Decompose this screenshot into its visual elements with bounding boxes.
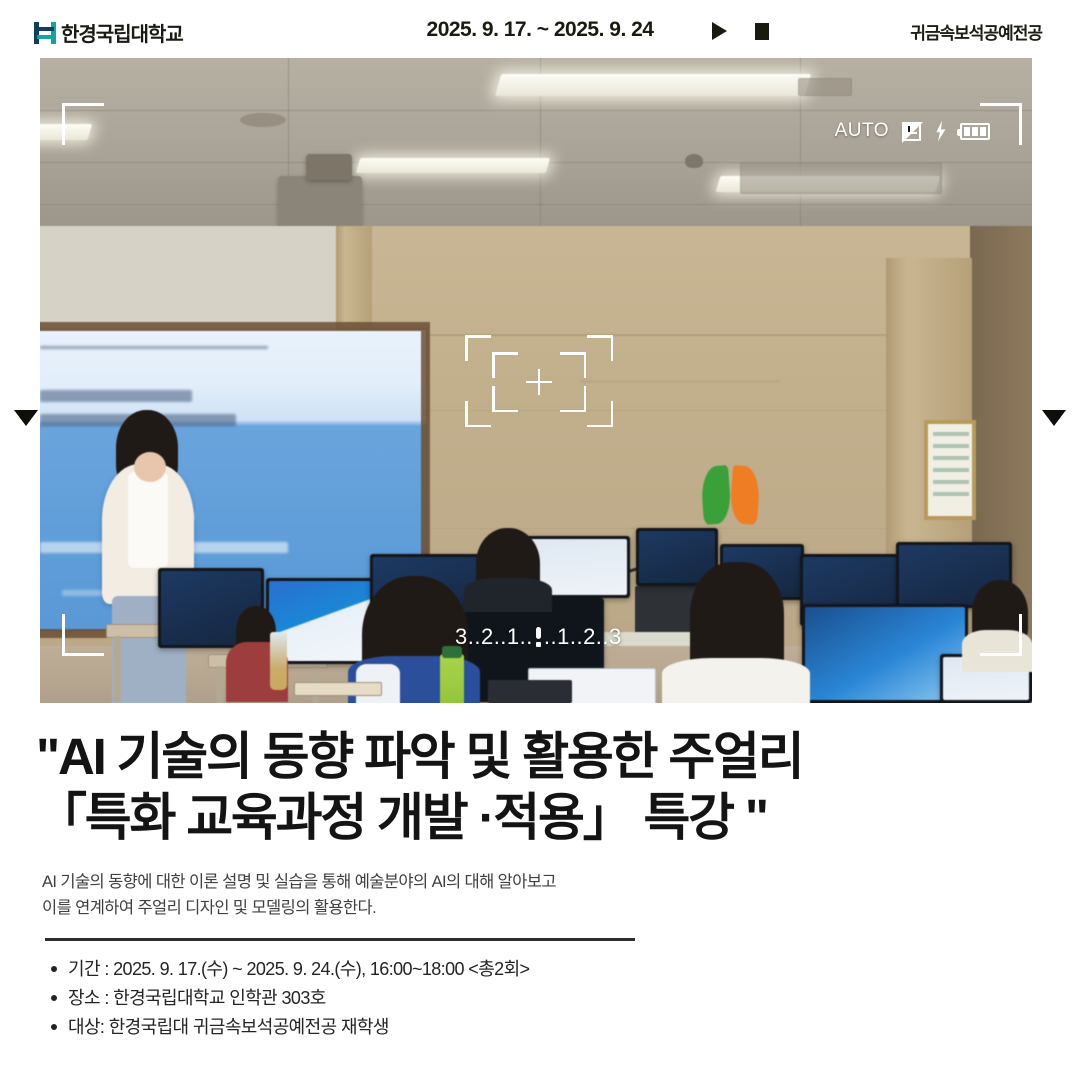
green-bottle — [440, 654, 464, 703]
university-emblem-icon — [700, 466, 762, 528]
divider — [45, 938, 635, 941]
classroom-photo — [40, 58, 1032, 703]
ceiling-vent — [798, 78, 852, 96]
lead-description: AI 기술의 동향에 대한 이론 설명 및 실습을 통해 예술분야의 AI의 대… — [0, 848, 1080, 921]
ceiling-light — [495, 74, 811, 96]
ceiling-projector — [278, 176, 362, 226]
prev-arrow-icon[interactable] — [14, 410, 38, 426]
list-item: 기간 : 2025. 9. 17.(수) ~ 2025. 9. 24.(수), … — [68, 955, 1080, 984]
water-bottle — [270, 632, 287, 690]
ceiling-vent — [740, 162, 942, 194]
list-item: 장소 : 한경국립대학교 인학관 303호 — [68, 984, 1080, 1013]
fact-list: 기간 : 2025. 9. 17.(수) ~ 2025. 9. 24.(수), … — [0, 955, 1080, 1042]
brand-name: 한경국립대학교 — [61, 18, 183, 47]
bottle-cap — [442, 646, 462, 658]
desk-leg — [114, 636, 121, 702]
desk — [294, 682, 382, 696]
ceiling-dome — [240, 113, 286, 127]
page-header: 한경국립대학교 2025. 9. 17. ~ 2025. 9. 24 귀금속보석… — [0, 0, 1080, 58]
keyboard — [488, 680, 572, 703]
main-content: "AI 기술의 동향 파악 및 활용한 주얼리 「특화 교육과정 개발 ·적용」… — [0, 706, 1080, 1042]
brand: 한경국립대학교 — [34, 18, 183, 47]
play-icon[interactable] — [712, 22, 727, 40]
desk-leg — [216, 666, 223, 703]
next-arrow-icon[interactable] — [1042, 410, 1066, 426]
wall-upper-left — [40, 226, 370, 336]
ceiling-light — [40, 124, 92, 140]
page-title: "AI 기술의 동향 파악 및 활용한 주얼리 「특화 교육과정 개발 ·적용」… — [0, 706, 1080, 848]
media-controls — [712, 22, 769, 40]
projector-mount — [306, 154, 352, 180]
hankyong-h-logo-icon — [34, 21, 56, 45]
list-item: 대상: 한경국립대 귀금속보석공예전공 재학생 — [68, 1013, 1080, 1042]
department-label: 귀금속보석공예전공 — [910, 19, 1042, 44]
ceiling-speaker — [685, 154, 703, 168]
ceiling-light — [356, 158, 550, 173]
stop-icon[interactable] — [755, 23, 769, 40]
wall-notice-board — [924, 420, 976, 520]
photo-viewfinder[interactable]: AUTO 3..2..1.. ..1..2..3 — [40, 58, 1032, 703]
